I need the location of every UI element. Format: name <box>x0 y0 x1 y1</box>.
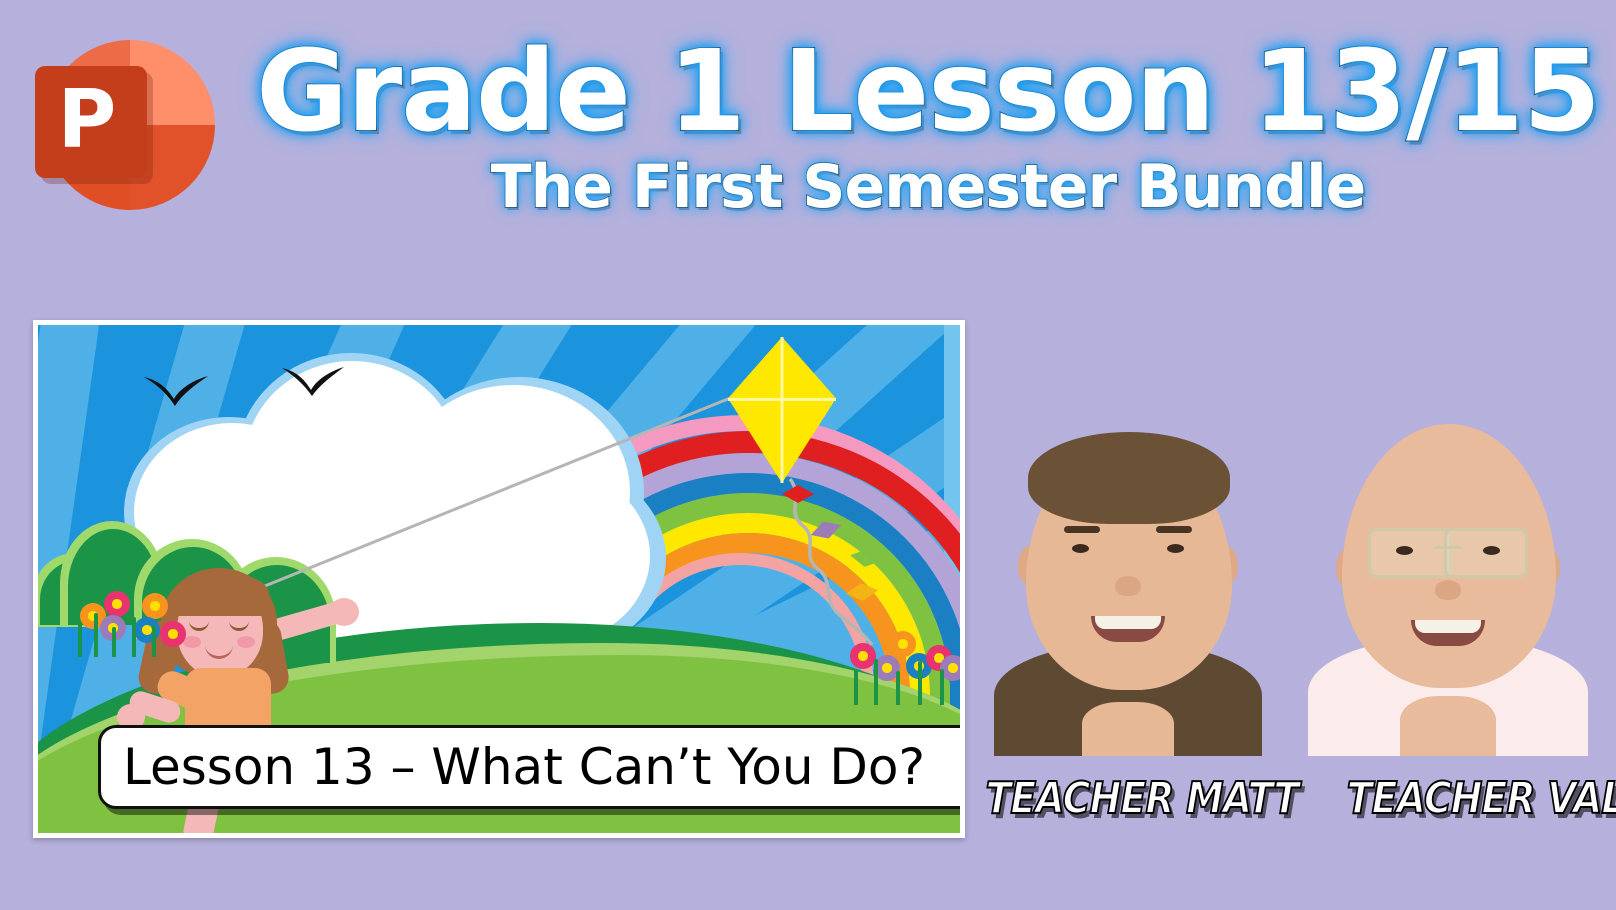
teacher-captions: TEACHER MATT TEACHER VAL <box>960 762 1616 834</box>
header-block: Grade 1 Lesson 13/15 The First Semester … <box>240 36 1616 220</box>
powerpoint-icon: P <box>25 20 235 230</box>
val-neck <box>1400 696 1496 756</box>
matt-neck <box>1082 702 1174 756</box>
bird-icon <box>280 365 358 397</box>
teacher-val-photo <box>1292 388 1604 756</box>
page-subtitle: The First Semester Bundle <box>240 154 1616 220</box>
powerpoint-icon-square: P <box>35 66 147 178</box>
matt-hair <box>1028 432 1230 524</box>
slide-preview-illustration: Lesson 13 – What Can’t You Do? <box>38 325 960 833</box>
kite-bow-orange <box>845 581 879 602</box>
kite-icon <box>728 337 836 483</box>
lesson-title-text: Lesson 13 – What Can’t You Do? <box>101 738 925 796</box>
flower <box>142 593 168 619</box>
lesson-title-box[interactable]: Lesson 13 – What Can’t You Do? <box>98 725 960 809</box>
flower <box>104 591 130 617</box>
teacher-matt-photo <box>972 388 1284 756</box>
caption-teacher-matt: TEACHER MATT <box>985 773 1298 824</box>
bird-icon <box>142 373 222 407</box>
kite-bow-red <box>782 485 814 503</box>
page-title: Grade 1 Lesson 13/15 <box>240 36 1616 148</box>
slide-canvas: P Grade 1 Lesson 13/15 The First Semeste… <box>0 0 1616 910</box>
flower <box>134 617 160 643</box>
slide-preview-frame[interactable]: Lesson 13 – What Can’t You Do? <box>33 320 965 838</box>
flower <box>160 621 186 647</box>
powerpoint-icon-letter: P <box>58 80 117 160</box>
flower <box>850 643 876 669</box>
caption-teacher-val: TEACHER VAL <box>1346 773 1616 824</box>
